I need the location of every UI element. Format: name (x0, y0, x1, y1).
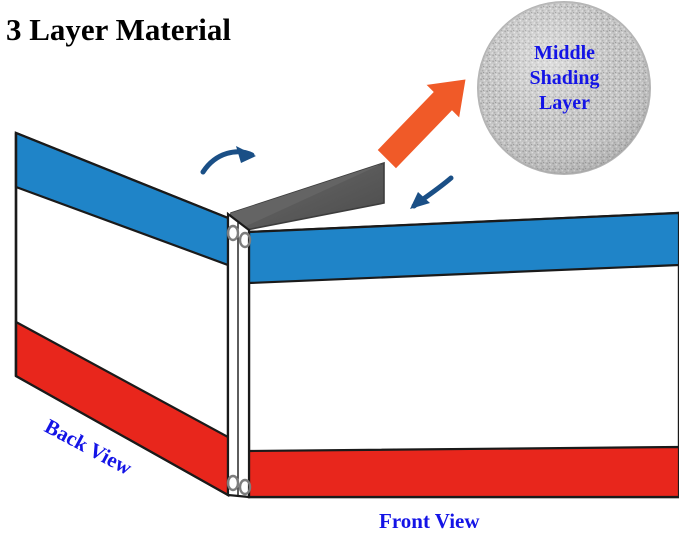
back-view-flag-panel (16, 133, 228, 495)
orange-arrow-shape (376, 78, 467, 170)
front-panel-red-stripe (249, 447, 679, 497)
page-title: 3 Layer Material (6, 12, 231, 48)
blue-curved-arrow-right (410, 178, 451, 209)
blue-curved-arrow-left (203, 146, 256, 172)
front-view-label: Front View (379, 509, 480, 534)
blue-arrow-left-head (236, 146, 256, 163)
middle-shading-layer-label-line2: Shading (497, 66, 632, 91)
middle-shading-layer-label: Middle Shading Layer (497, 41, 632, 116)
middle-shading-layer-label-line1: Middle (497, 41, 632, 66)
middle-shading-layer-label-line3: Layer (497, 91, 632, 116)
middle-shading-layer-wedge (231, 163, 384, 233)
orange-pointer-arrow (376, 78, 467, 170)
diagram-canvas: 3 Layer Material Middle Shading Layer Fr… (0, 0, 679, 539)
front-view-flag-panel (249, 213, 679, 497)
grommet-header-strip (228, 214, 250, 497)
